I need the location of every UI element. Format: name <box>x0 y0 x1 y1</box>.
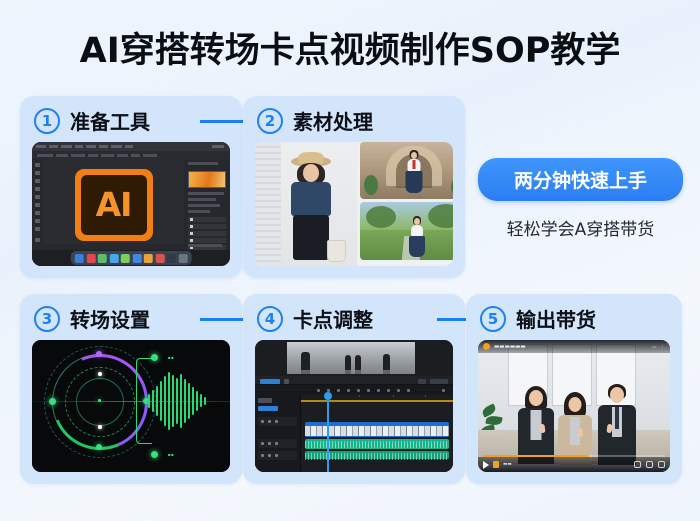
photo-outfit-garden <box>360 202 453 260</box>
person-left <box>516 386 556 464</box>
step-2-number: 2 <box>257 108 283 134</box>
step-3-number: 3 <box>34 306 60 332</box>
thumbs-up-gesture <box>578 428 584 437</box>
program-monitor <box>287 342 415 374</box>
step-2-thumbnail[interactable] <box>255 142 453 266</box>
artboard-canvas: AI <box>43 159 184 250</box>
step-3-label: 转场设置 <box>70 304 150 333</box>
node-inner-bottom <box>98 425 102 429</box>
track-header-a2[interactable] <box>258 451 297 460</box>
track-headers <box>255 395 301 472</box>
step-3-header: 3 转场设置 <box>34 304 150 333</box>
ruler-tick: ▪ <box>393 394 394 398</box>
time-ruler[interactable] <box>301 400 453 402</box>
sequence-tab-add[interactable] <box>284 379 289 384</box>
step-5-header: 5 输出带货 <box>480 304 596 333</box>
page-title-container: AI穿搭转场卡点视频制作SOP教学 <box>0 22 700 73</box>
sequence-tab-active[interactable] <box>260 379 280 384</box>
player-top-actions[interactable]: ▭ ⋮ <box>652 344 665 350</box>
connector-node-bottom <box>151 451 158 458</box>
node-left <box>49 398 56 405</box>
illustrator-logo-text: AI <box>96 188 132 221</box>
step-1-label: 准备工具 <box>70 106 150 135</box>
connector-label-bottom: ▪▪ <box>168 452 174 457</box>
header-label-active <box>258 406 278 411</box>
play-icon[interactable] <box>483 461 489 469</box>
step-card-5[interactable]: 5 输出带货 <box>466 294 682 484</box>
speed-label[interactable]: ▬▬ <box>503 462 512 467</box>
necktie <box>615 407 619 429</box>
tool-strip <box>255 385 453 395</box>
status-bar <box>43 244 184 250</box>
sequence-tabs <box>255 376 453 385</box>
page-title: AI穿搭转场卡点视频制作SOP教学 <box>0 22 700 73</box>
playhead[interactable] <box>327 395 329 472</box>
illustrator-window: AI <box>32 142 230 266</box>
timeline-editor: ▪ ▪ ▪ ▪ <box>255 340 453 472</box>
person-right <box>596 384 638 464</box>
outfit-collage <box>255 142 453 266</box>
infographic-page: AI穿搭转场卡点视频制作SOP教学 1 准备工具 <box>0 0 700 521</box>
node-top <box>96 351 102 357</box>
step-4-header: 4 卡点调整 <box>257 304 373 333</box>
os-dock <box>71 251 192 265</box>
ruler-tick: ▪ <box>359 394 360 398</box>
promo-subtitle: 轻松学会A穿搭带货 <box>478 215 683 240</box>
channel-avatar-icon[interactable] <box>483 343 490 350</box>
ruler-tick: ▪ <box>425 394 426 398</box>
step-5-number: 5 <box>480 306 506 332</box>
node-bottom <box>96 444 102 450</box>
step-3-thumbnail[interactable]: ▪▪ ▪▪ <box>32 340 230 472</box>
layer-row <box>188 217 226 222</box>
model-figure-garden <box>406 216 428 260</box>
step-1-header: 1 准备工具 <box>34 106 150 135</box>
audio-waveform <box>148 370 214 432</box>
step-4-number: 4 <box>257 306 283 332</box>
step-5-thumbnail[interactable]: ▬▬▬▬▬▬ ▭ ⋮ ▬▬ <box>478 340 670 472</box>
promo-badge: 两分钟快速上手 <box>478 158 683 201</box>
share-icon[interactable]: ▭ <box>652 344 656 350</box>
player-title-bar: ▬▬▬▬▬▬ ▭ ⋮ <box>478 340 670 353</box>
app-menubar <box>32 142 230 151</box>
step-1-number: 1 <box>34 108 60 134</box>
step-card-4[interactable]: 4 卡点调整 <box>243 294 465 484</box>
header-label <box>258 398 272 403</box>
next-icon[interactable] <box>493 461 499 468</box>
photo-main-portrait <box>255 142 357 266</box>
model-figure-arch <box>402 150 426 198</box>
layer-row <box>188 231 226 236</box>
step-5-label: 输出带货 <box>516 304 596 333</box>
person-center <box>556 392 594 464</box>
subtitles-icon[interactable] <box>646 461 653 468</box>
video-title: ▬▬▬▬▬▬ <box>494 344 526 350</box>
video-frame <box>478 340 670 472</box>
properties-panel <box>184 159 230 250</box>
sequence-tool[interactable] <box>418 379 426 384</box>
player-right-actions[interactable] <box>634 461 665 468</box>
video-player[interactable]: ▬▬▬▬▬▬ ▭ ⋮ ▬▬ <box>478 340 670 472</box>
step-1-thumbnail[interactable]: AI <box>32 142 230 266</box>
step-2-header: 2 素材处理 <box>257 106 373 135</box>
connector-node-top <box>151 354 158 361</box>
thumbs-up-gesture <box>539 424 545 434</box>
step-2-label: 素材处理 <box>293 106 373 135</box>
transition-visualizer: ▪▪ ▪▪ <box>32 340 230 472</box>
logo-inner: AI <box>81 175 147 235</box>
node-inner-top <box>98 372 102 376</box>
app-toolbar <box>32 151 230 159</box>
tools-panel <box>32 159 43 250</box>
layer-row <box>188 224 226 229</box>
node-center <box>98 399 101 402</box>
player-controls[interactable]: ▬▬ <box>478 457 670 472</box>
window-blinds <box>255 142 281 266</box>
step-card-2[interactable]: 2 素材处理 <box>243 96 465 278</box>
more-icon[interactable]: ⋮ <box>660 344 665 350</box>
step-4-thumbnail[interactable]: ▪ ▪ ▪ ▪ <box>255 340 453 472</box>
fullscreen-icon[interactable] <box>658 461 665 468</box>
handbag-prop <box>327 240 346 262</box>
connector-label-top: ▪▪ <box>168 355 174 360</box>
timeline-tracks[interactable]: ▪ ▪ ▪ ▪ <box>301 395 453 472</box>
layer-row <box>188 238 226 243</box>
quality-icon[interactable] <box>634 461 641 468</box>
step-4-label: 卡点调整 <box>293 304 373 333</box>
promo-block: 两分钟快速上手 轻松学会A穿搭带货 <box>478 158 683 240</box>
illustrator-logo-shape: AI <box>75 169 153 241</box>
track-header-a1[interactable] <box>258 439 297 448</box>
track-header-v1[interactable] <box>258 417 297 426</box>
gradient-swatch <box>188 171 226 188</box>
photo-outfit-arch <box>360 142 453 199</box>
sequence-menu[interactable] <box>430 379 448 384</box>
